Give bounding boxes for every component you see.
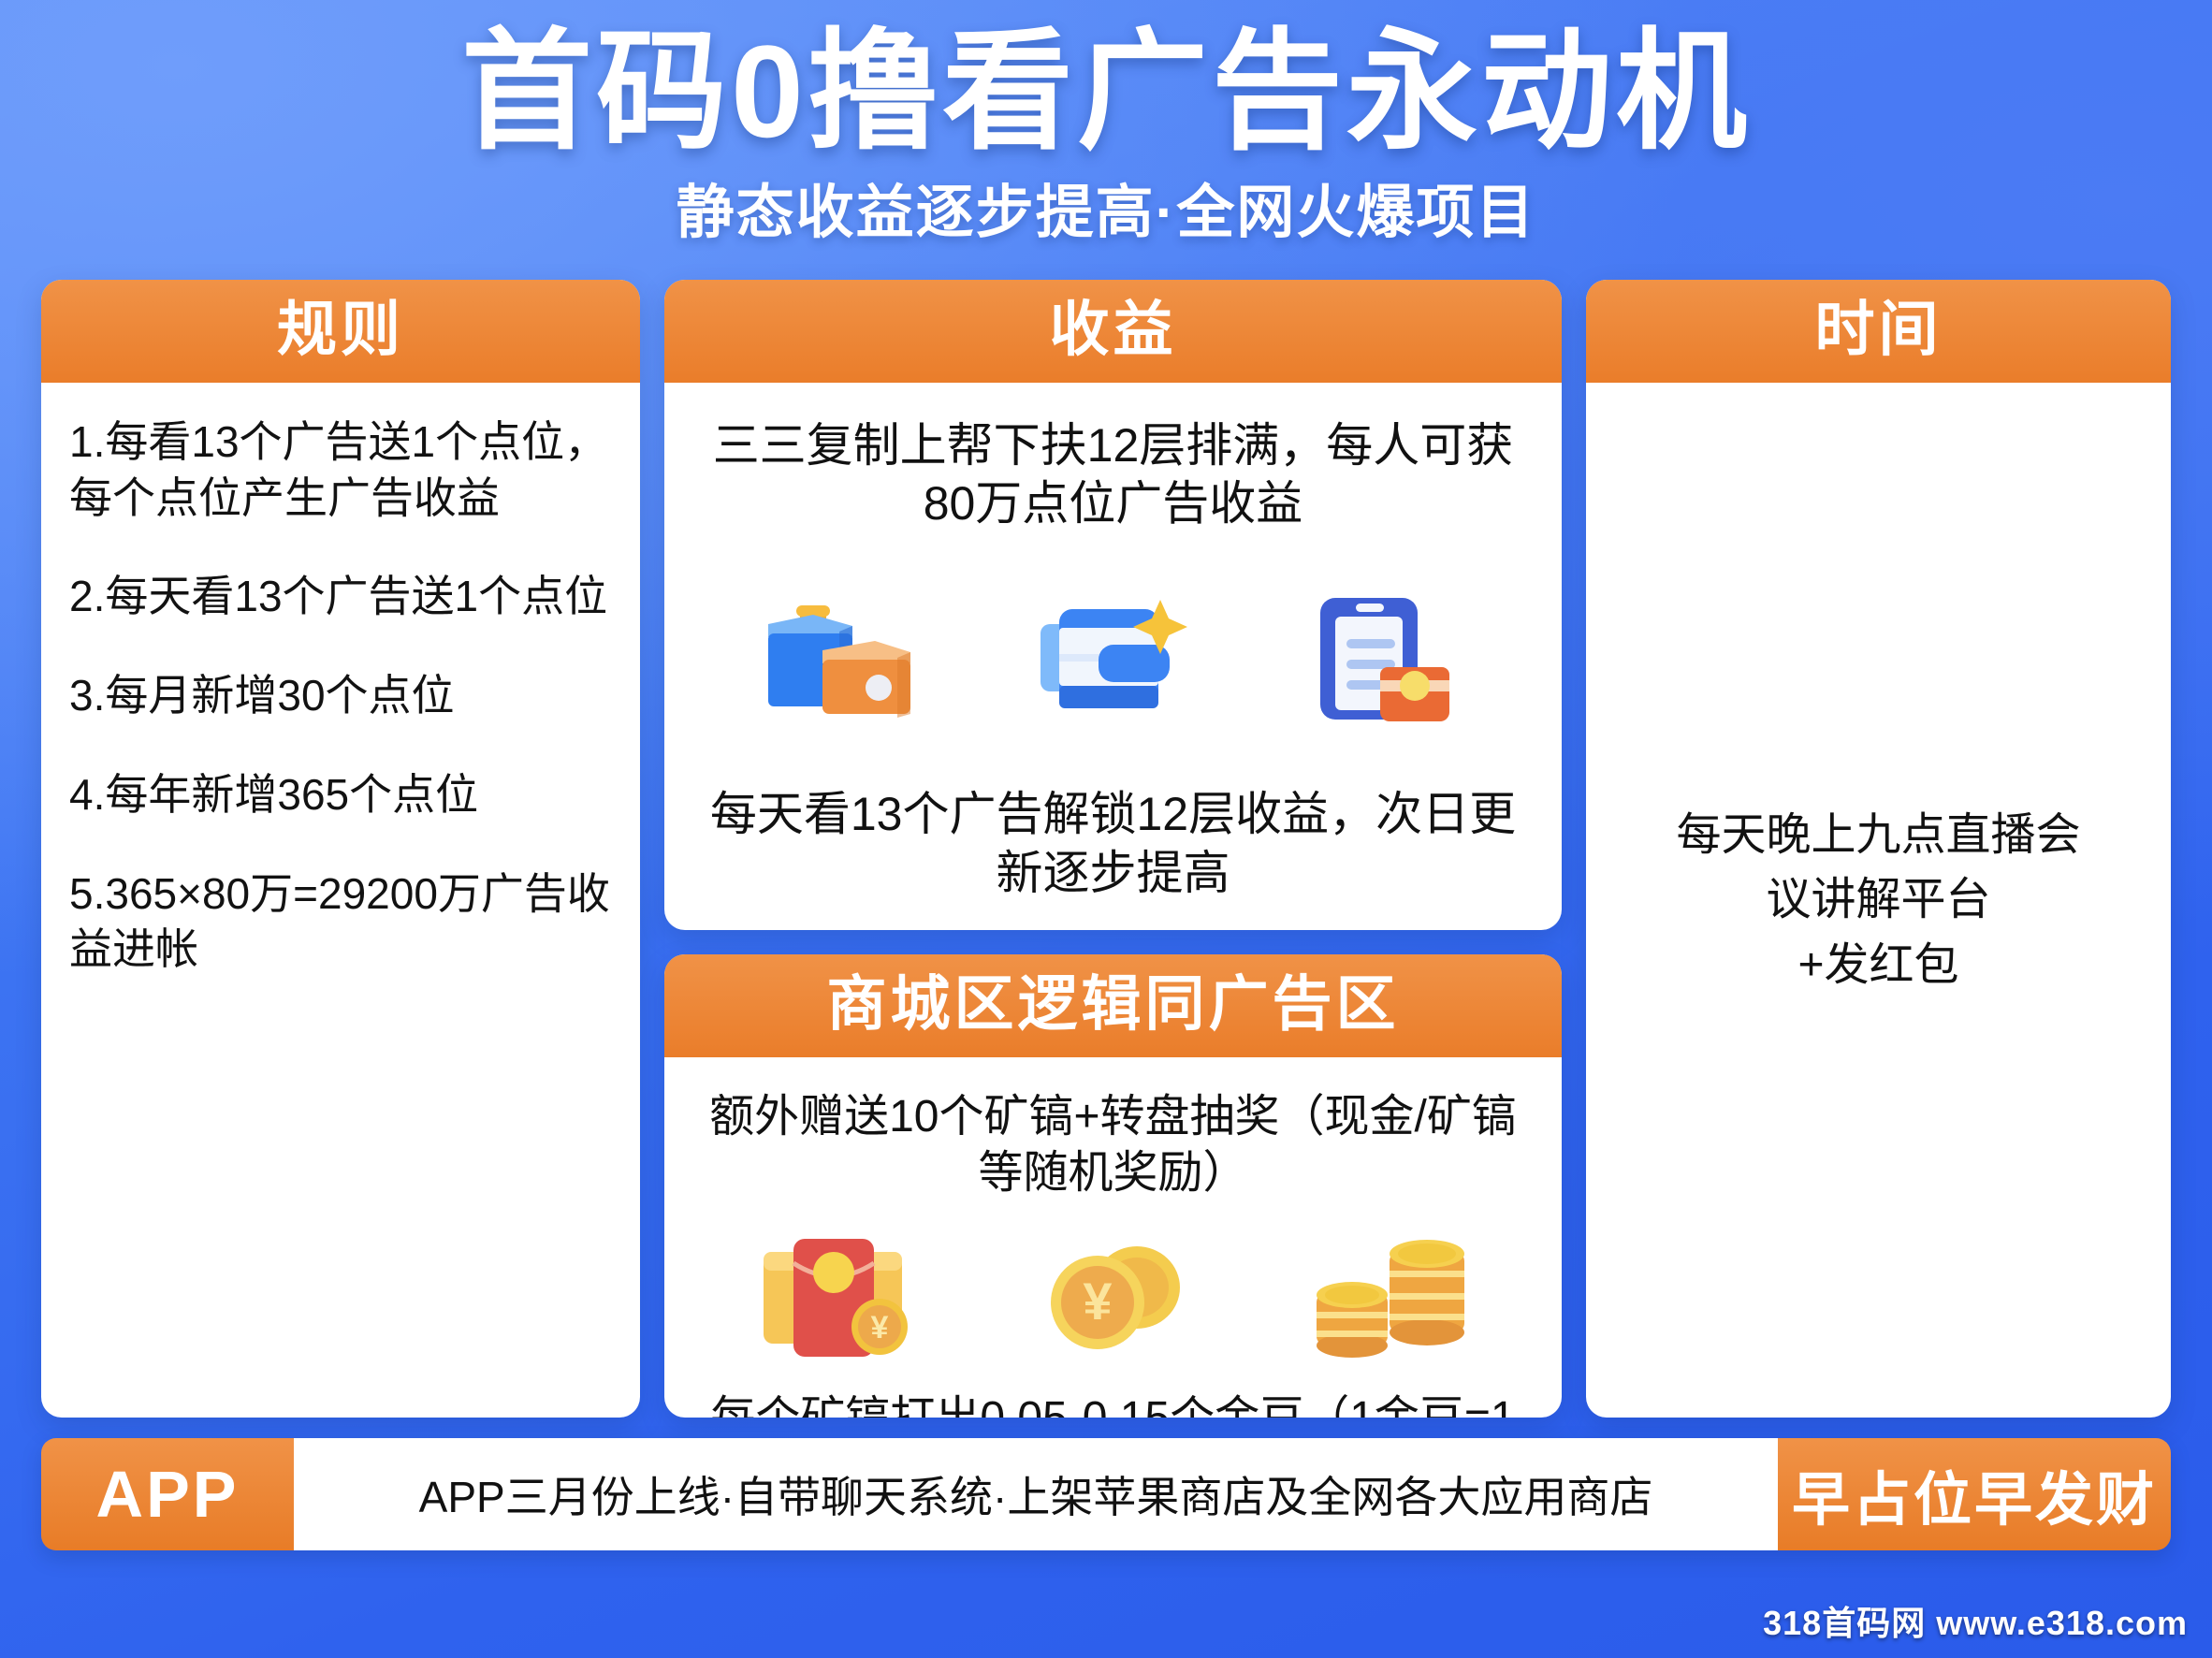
footer-bar: APP APP三月份上线·自带聊天系统·上架苹果商店及全网各大应用商店 早占位早…: [41, 1438, 2171, 1550]
rules-column: 规则 1.每看13个广告送1个点位， 每个点位产生广告收益 2.每天看13个广告…: [41, 280, 640, 1418]
red-envelope-coin-icon: ¥: [739, 1216, 926, 1375]
shop-card-body: 额外赠送10个矿镐+转盘抽奖（现金/矿镐等随机奖励）: [664, 1057, 1562, 1418]
svg-text:¥: ¥: [1084, 1272, 1113, 1331]
income-card: 收益 三三复制上帮下扶12层排满，每人可获80万点位广告收益: [664, 280, 1562, 930]
income-bottom-line: 每天看13个广告解锁12层收益，次日更新逐步提高: [696, 785, 1530, 902]
rule-item: 3.每月新增30个点位: [69, 668, 612, 724]
shop-bottom-line: 每个矿镐打出0.05-0.15个金豆（1金豆=1元）: [692, 1390, 1534, 1418]
rule-item: 2.每天看13个广告送1个点位: [69, 569, 612, 625]
footer-app-description: APP三月份上线·自带聊天系统·上架苹果商店及全网各大应用商店: [294, 1438, 1778, 1550]
shop-card-title: 商城区逻辑同广告区: [664, 954, 1562, 1057]
promo-poster: 首码0撸看广告永动机 静态收益逐步提高·全网火爆项目 规则 1.每看13个广告送…: [0, 0, 2212, 1658]
poster-header: 首码0撸看广告永动机 静态收益逐步提高·全网火爆项目: [0, 0, 2212, 248]
rules-card-body: 1.每看13个广告送1个点位， 每个点位产生广告收益 2.每天看13个广告送1个…: [41, 383, 640, 1418]
footer-cta-button[interactable]: 早占位早发财: [1778, 1438, 2171, 1550]
shop-card: 商城区逻辑同广告区 额外赠送10个矿镐+转盘抽奖（现金/矿镐等随机奖励）: [664, 954, 1562, 1418]
rule-item: 1.每看13个广告送1个点位， 每个点位产生广告收益: [69, 414, 612, 527]
time-column: 时间 每天晚上九点直播会 议讲解平台 +发红包: [1586, 280, 2171, 1418]
page-title: 首码0撸看广告永动机: [0, 19, 2212, 166]
shop-top-line: 额外赠送10个矿镐+转盘抽奖（现金/矿镐等随机奖励）: [692, 1089, 1534, 1201]
middle-column: 收益 三三复制上帮下扶12层排满，每人可获80万点位广告收益: [664, 280, 1562, 1418]
content-grid: 规则 1.每看13个广告送1个点位， 每个点位产生广告收益 2.每天看13个广告…: [0, 248, 2212, 1418]
income-top-line: 三三复制上帮下扶12层排满，每人可获80万点位广告收益: [696, 416, 1530, 533]
footer-app-tag: APP: [41, 1438, 294, 1550]
site-watermark: 318首码网 www.e318.com: [1763, 1596, 2188, 1645]
income-card-title: 收益: [664, 280, 1562, 383]
rule-item: 5.365×80万=29200万广告收益进帐: [69, 866, 612, 979]
clipboard-giftbox-icon: [1298, 579, 1485, 738]
coin-stacks-icon: [1300, 1216, 1487, 1375]
rules-card-title: 规则: [41, 280, 640, 383]
svg-text:¥: ¥: [870, 1310, 888, 1345]
time-card-text: 每天晚上九点直播会 议讲解平台 +发红包: [1676, 803, 2080, 998]
rules-card: 规则 1.每看13个广告送1个点位， 每个点位产生广告收益 2.每天看13个广告…: [41, 280, 640, 1418]
income-card-body: 三三复制上帮下扶12层排满，每人可获80万点位广告收益: [664, 383, 1562, 930]
time-card-title: 时间: [1586, 280, 2171, 383]
time-card: 时间 每天晚上九点直播会 议讲解平台 +发红包: [1586, 280, 2171, 1418]
shop-icon-row: ¥ ¥: [692, 1216, 1534, 1375]
income-icon-row: [696, 579, 1530, 738]
yen-coins-icon: ¥: [1019, 1216, 1206, 1375]
page-subtitle: 静态收益逐步提高·全网火爆项目: [0, 179, 2212, 248]
wallet-sparkle-icon: [1020, 579, 1207, 738]
rule-item: 4.每年新增365个点位: [69, 767, 612, 823]
toolbox-box-icon: [742, 579, 929, 738]
time-card-body: 每天晚上九点直播会 议讲解平台 +发红包: [1586, 383, 2171, 1418]
